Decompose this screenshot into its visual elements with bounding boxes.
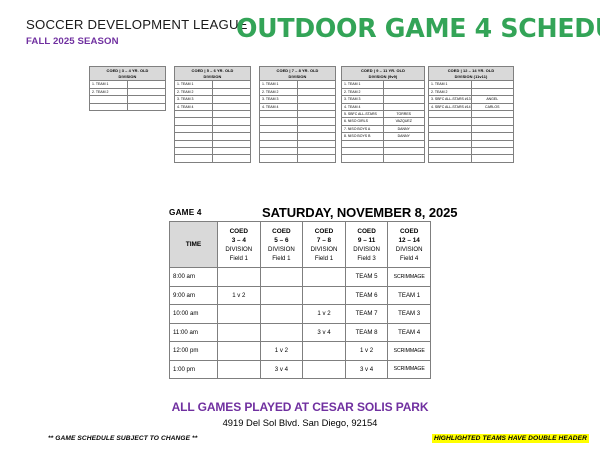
team-name: 2. TEAM 2 — [260, 88, 298, 95]
schedule-cell: 1 v 2 — [303, 305, 346, 324]
column-coed: COED — [346, 227, 388, 236]
schedule-cell: 1 v 2 — [345, 342, 388, 361]
team-name — [260, 155, 298, 162]
page-title: OUTDOOR GAME 4 SCHEDULE — [236, 14, 600, 44]
league-branding: SOCCER DEVELOPMENT LEAGUE FALL 2025 SEAS… — [26, 18, 248, 47]
column-header-time: TIME — [170, 222, 218, 268]
table-row: 1:00 pm 3 v 4 3 v 4 SCRIMMAGE — [170, 360, 431, 379]
table-row — [175, 155, 251, 162]
table-row: 1. TEAM 1 — [429, 81, 514, 88]
table-row: 10:00 am 1 v 2 TEAM 7 TEAM 3 — [170, 305, 431, 324]
division-rows: 1. TEAM 1 2. TEAM 2 — [90, 81, 166, 111]
coach-name — [213, 133, 251, 140]
division-title: COED | 3 – 4 YR. OLD DIVISION — [90, 67, 166, 81]
coach-name — [213, 125, 251, 132]
coach-name — [213, 118, 251, 125]
division-title-line2: DIVISION — [119, 74, 137, 79]
division-title-line1: COED | 5 – 6 YR. OLD — [192, 68, 234, 73]
schedule-cell: TEAM 6 — [345, 286, 388, 305]
table-row — [175, 133, 251, 140]
team-name — [175, 147, 213, 154]
table-row — [175, 147, 251, 154]
column-age: 3 – 4 — [218, 236, 260, 245]
coach-name — [383, 155, 425, 162]
table-row — [429, 125, 514, 132]
coach-name — [298, 133, 336, 140]
schedule-cell — [218, 323, 261, 342]
schedule-cell — [303, 360, 346, 379]
table-row: 1. TEAM 1 — [175, 81, 251, 88]
schedule-cell — [303, 268, 346, 287]
team-name — [90, 96, 128, 103]
schedule-date: SATURDAY, NOVEMBER 8, 2025 — [262, 205, 457, 220]
table-row — [429, 118, 514, 125]
schedule-cell: SCRIMMAGE — [388, 342, 431, 361]
division-table-7-8: COED | 7 – 8 YR. OLD DIVISION 1. TEAM 1 … — [259, 66, 336, 163]
team-name — [429, 111, 472, 118]
table-row — [429, 111, 514, 118]
table-row: 4. TEAM 4 — [342, 103, 425, 110]
coach-name — [383, 103, 425, 110]
division-title: COED | 7 – 8 YR. OLD DIVISION — [260, 67, 336, 81]
coach-name — [298, 125, 336, 132]
schedule-cell: TEAM 8 — [345, 323, 388, 342]
column-age: 9 – 11 — [346, 236, 388, 245]
team-name — [260, 140, 298, 147]
team-name: 1. TEAM 1 — [175, 81, 213, 88]
division-title-line1: COED | 3 – 4 YR. OLD — [107, 68, 149, 73]
team-name: 4. TEAM 4 — [260, 103, 298, 110]
team-name — [429, 147, 472, 154]
column-header-division-5-6: COED 5 – 6 DIVISION Field 1 — [260, 222, 303, 268]
team-name — [175, 125, 213, 132]
division-table-5-6: COED | 5 – 6 YR. OLD DIVISION 1. TEAM 1 … — [174, 66, 251, 163]
team-name — [260, 125, 298, 132]
column-age: 12 – 14 — [388, 236, 430, 245]
coach-name — [298, 103, 336, 110]
table-row: 2. TEAM 2 — [429, 88, 514, 95]
team-name: 1. TEAM 1 — [429, 81, 472, 88]
team-name — [429, 118, 472, 125]
team-name: 3. SBFC ALL-STARS #13 — [429, 96, 472, 103]
coach-name — [471, 140, 514, 147]
double-header-note: HIGHLIGHTED TEAMS HAVE DOUBLE HEADER — [432, 434, 589, 443]
coach-name — [383, 140, 425, 147]
table-row — [90, 96, 166, 103]
coach-name — [213, 81, 251, 88]
column-coed: COED — [388, 227, 430, 236]
table-row — [260, 155, 336, 162]
page-masthead: SOCCER DEVELOPMENT LEAGUE FALL 2025 SEAS… — [0, 0, 600, 62]
schedule-cell: 3 v 4 — [303, 323, 346, 342]
coach-name — [471, 111, 514, 118]
column-header-division-3-4: COED 3 – 4 DIVISION Field 1 — [218, 222, 261, 268]
table-row — [429, 147, 514, 154]
table-row — [90, 103, 166, 110]
coach-name — [213, 155, 251, 162]
coach-name — [383, 148, 425, 155]
table-row: 4. SBFC ALL-STARS #14CARLOS — [429, 103, 514, 110]
column-division: DIVISION — [388, 245, 430, 254]
table-row — [175, 125, 251, 132]
team-name: 2. TEAM 2 — [429, 88, 472, 95]
coach-name — [298, 111, 336, 118]
team-name — [175, 118, 213, 125]
schedule-cell: TEAM 7 — [345, 305, 388, 324]
table-row: 3. TEAM 3 — [260, 96, 336, 103]
column-coed: COED — [261, 227, 303, 236]
table-row: 2. TEAM 2 — [90, 88, 166, 95]
coach-name — [298, 118, 336, 125]
coach-name — [471, 88, 514, 95]
table-row: 6. NISO GIRLSVAZQUEZ — [342, 118, 425, 125]
column-header-division-12-14: COED 12 – 14 DIVISION Field 4 — [388, 222, 431, 268]
coach-name: CARLOS — [471, 103, 514, 110]
table-row: 1. TEAM 1 — [342, 81, 425, 88]
schedule-cell: 1 v 2 — [218, 286, 261, 305]
division-table-9-11: COED | 9 – 11 YR. OLD DIVISION (9v9) 1. … — [341, 66, 425, 163]
coach-name — [298, 88, 336, 95]
coach-name — [213, 103, 251, 110]
team-name: 5. SBFC ALL-STARS — [342, 111, 384, 118]
division-title-line2: DIVISION (9v9) — [369, 74, 398, 79]
coach-name — [213, 147, 251, 154]
time-slot: 1:00 pm — [170, 360, 218, 379]
table-row: 7. NISO BOYS ADANNY — [342, 125, 425, 132]
time-slot: 11:00 am — [170, 323, 218, 342]
schedule-cell: 3 v 4 — [345, 360, 388, 379]
table-row — [175, 111, 251, 118]
table-row: 2. TEAM 2 — [342, 88, 425, 95]
season-label: FALL 2025 SEASON — [26, 36, 248, 47]
table-row — [260, 111, 336, 118]
schedule-cell — [303, 342, 346, 361]
team-name — [260, 147, 298, 154]
schedule-cell — [218, 268, 261, 287]
coach-name — [213, 96, 251, 103]
time-slot: 8:00 am — [170, 268, 218, 287]
team-name — [429, 140, 472, 147]
coach-name — [213, 140, 251, 147]
coach-name — [383, 96, 425, 103]
division-title: COED | 12 – 14 YR. OLD DIVISION (11v11) — [429, 67, 514, 81]
table-row — [429, 155, 514, 162]
team-name — [342, 155, 384, 162]
division-title: COED | 9 – 11 YR. OLD DIVISION (9v9) — [342, 67, 425, 81]
venue-address: 4919 Del Sol Blvd. San Diego, 92154 — [0, 417, 600, 428]
table-row — [260, 118, 336, 125]
coach-name — [471, 147, 514, 154]
division-title-line1: COED | 9 – 11 YR. OLD — [361, 68, 405, 73]
column-age: 7 – 8 — [303, 236, 345, 245]
table-row — [260, 140, 336, 147]
table-row: 1. TEAM 1 — [90, 81, 166, 88]
table-row: 3. TEAM 3 — [175, 96, 251, 103]
division-title-line2: DIVISION — [204, 74, 222, 79]
table-row — [175, 140, 251, 147]
coach-name: DANNY — [383, 125, 425, 132]
team-name — [342, 148, 384, 155]
coach-name: DANNY — [383, 133, 425, 140]
table-row — [429, 140, 514, 147]
column-coed: COED — [303, 227, 345, 236]
venue-name: ALL GAMES PLAYED AT CESAR SOLIS PARK — [0, 400, 600, 414]
schedule-cell: TEAM 4 — [388, 323, 431, 342]
schedule-cell: TEAM 3 — [388, 305, 431, 324]
table-row: 3. SBFC ALL-STARS #13ANGEL — [429, 96, 514, 103]
coach-name — [128, 88, 166, 95]
table-row — [260, 147, 336, 154]
team-name — [175, 155, 213, 162]
table-row — [342, 140, 425, 147]
division-table-12-14: COED | 12 – 14 YR. OLD DIVISION (11v11) … — [428, 66, 514, 163]
game-number-label: GAME 4 — [169, 208, 202, 217]
division-table-3-4: COED | 3 – 4 YR. OLD DIVISION 1. TEAM 1 … — [89, 66, 166, 111]
table-row: 3. TEAM 3 — [342, 96, 425, 103]
coach-name — [128, 103, 166, 110]
team-name: 2. TEAM 2 — [90, 88, 128, 95]
schedule-cell: 3 v 4 — [260, 360, 303, 379]
team-name — [429, 155, 472, 162]
schedule-cell: TEAM 5 — [345, 268, 388, 287]
division-title-line2: DIVISION — [289, 74, 307, 79]
table-row — [175, 118, 251, 125]
team-name — [175, 111, 213, 118]
division-rows: 1. TEAM 1 2. TEAM 2 3. TEAM 3 4. TEAM 4 — [175, 81, 251, 162]
column-division: DIVISION — [346, 245, 388, 254]
schedule-cell — [260, 323, 303, 342]
table-row: 4. TEAM 4 — [260, 103, 336, 110]
team-name: 7. NISO BOYS A — [342, 125, 384, 132]
column-field: Field 3 — [346, 254, 388, 263]
schedule-cell — [260, 305, 303, 324]
team-name: 4. TEAM 4 — [342, 103, 384, 110]
team-name: 3. TEAM 3 — [342, 96, 384, 103]
coach-name — [471, 125, 514, 132]
column-header-division-9-11: COED 9 – 11 DIVISION Field 3 — [345, 222, 388, 268]
column-field: Field 1 — [218, 254, 260, 263]
table-row — [260, 125, 336, 132]
schedule-table: TIME COED 3 – 4 DIVISION Field 1 COED 5 … — [169, 221, 431, 379]
division-title-line1: COED | 7 – 8 YR. OLD — [277, 68, 319, 73]
schedule-cell: SCRIMMAGE — [388, 360, 431, 379]
table-row: 8. NISO BOYS BDANNY — [342, 133, 425, 140]
table-row: 1. TEAM 1 — [260, 81, 336, 88]
table-row: 8:00 am TEAM 5 SCRIMMAGE — [170, 268, 431, 287]
team-name: 1. TEAM 1 — [90, 81, 128, 88]
league-name: SOCCER DEVELOPMENT LEAGUE — [26, 18, 248, 33]
column-division: DIVISION — [303, 245, 345, 254]
team-name — [260, 118, 298, 125]
division-rows: 1. TEAM 1 2. TEAM 2 3. TEAM 3 4. TEAM 4 … — [342, 81, 425, 162]
column-division: DIVISION — [218, 245, 260, 254]
coach-name — [128, 81, 166, 88]
division-rows: 1. TEAM 1 2. TEAM 2 3. TEAM 3 4. TEAM 4 — [260, 81, 336, 162]
table-row: 11:00 am 3 v 4 TEAM 8 TEAM 4 — [170, 323, 431, 342]
coach-name — [213, 111, 251, 118]
column-coed: COED — [218, 227, 260, 236]
coach-name — [471, 133, 514, 140]
table-row: 5. SBFC ALL-STARSTORRES — [342, 111, 425, 118]
team-name — [429, 133, 472, 140]
team-name — [342, 140, 384, 147]
table-row: 12:00 pm 1 v 2 1 v 2 SCRIMMAGE — [170, 342, 431, 361]
team-name — [260, 133, 298, 140]
coach-name — [298, 147, 336, 154]
coach-name: TORRES — [383, 111, 425, 118]
team-name: 1. TEAM 1 — [260, 81, 298, 88]
column-field: Field 4 — [388, 254, 430, 263]
schedule-cell — [303, 286, 346, 305]
schedule-cell: SCRIMMAGE — [388, 268, 431, 287]
team-name — [175, 140, 213, 147]
schedule-cell: 1 v 2 — [260, 342, 303, 361]
column-field: Field 1 — [303, 254, 345, 263]
table-row — [342, 148, 425, 155]
coach-name — [298, 96, 336, 103]
team-name: 3. TEAM 3 — [175, 96, 213, 103]
division-title-line1: COED | 12 – 14 YR. OLD — [448, 68, 494, 73]
time-slot: 9:00 am — [170, 286, 218, 305]
coach-name: VAZQUEZ — [383, 118, 425, 125]
schedule-cell — [218, 342, 261, 361]
team-name: 1. TEAM 1 — [342, 81, 384, 88]
schedule-body: 8:00 am TEAM 5 SCRIMMAGE 9:00 am 1 v 2 T… — [170, 268, 431, 379]
division-title: COED | 5 – 6 YR. OLD DIVISION — [175, 67, 251, 81]
table-row — [429, 133, 514, 140]
time-slot: 10:00 am — [170, 305, 218, 324]
team-name: 3. TEAM 3 — [260, 96, 298, 103]
coach-name — [471, 81, 514, 88]
division-roster-group: COED | 3 – 4 YR. OLD DIVISION 1. TEAM 1 … — [0, 64, 600, 154]
schedule-cell — [260, 268, 303, 287]
column-field: Field 1 — [261, 254, 303, 263]
schedule-cell: TEAM 1 — [388, 286, 431, 305]
schedule-cell — [218, 360, 261, 379]
division-title-line2: DIVISION (11v11) — [455, 74, 488, 79]
team-name: 4. SBFC ALL-STARS #14 — [429, 103, 472, 110]
schedule-change-note: ** GAME SCHEDULE SUBJECT TO CHANGE ** — [48, 435, 197, 442]
schedule-cell — [218, 305, 261, 324]
coach-name — [213, 88, 251, 95]
coach-name — [298, 155, 336, 162]
coach-name: ANGEL — [471, 96, 514, 103]
column-header-division-7-8: COED 7 – 8 DIVISION Field 1 — [303, 222, 346, 268]
table-row: 9:00 am 1 v 2 TEAM 6 TEAM 1 — [170, 286, 431, 305]
coach-name — [298, 140, 336, 147]
team-name: 2. TEAM 2 — [342, 88, 384, 95]
table-row — [260, 133, 336, 140]
team-name: 2. TEAM 2 — [175, 88, 213, 95]
coach-name — [471, 155, 514, 162]
team-name: 6. NISO GIRLS — [342, 118, 384, 125]
coach-name — [383, 81, 425, 88]
time-slot: 12:00 pm — [170, 342, 218, 361]
schedule-cell — [260, 286, 303, 305]
schedule-header-row: TIME COED 3 – 4 DIVISION Field 1 COED 5 … — [170, 222, 431, 268]
column-division: DIVISION — [261, 245, 303, 254]
table-row: 2. TEAM 2 — [260, 88, 336, 95]
coach-name — [383, 88, 425, 95]
table-row: 2. TEAM 2 — [175, 88, 251, 95]
team-name — [260, 111, 298, 118]
coach-name — [298, 81, 336, 88]
table-row: 4. TEAM 4 — [175, 103, 251, 110]
division-rows: 1. TEAM 1 2. TEAM 2 3. SBFC ALL-STARS #1… — [429, 81, 514, 162]
coach-name — [128, 96, 166, 103]
team-name — [429, 125, 472, 132]
team-name: 4. TEAM 4 — [175, 103, 213, 110]
team-name — [90, 103, 128, 110]
coach-name — [471, 118, 514, 125]
team-name — [175, 133, 213, 140]
team-name: 8. NISO BOYS B — [342, 133, 384, 140]
column-age: 5 – 6 — [261, 236, 303, 245]
table-row — [342, 155, 425, 162]
